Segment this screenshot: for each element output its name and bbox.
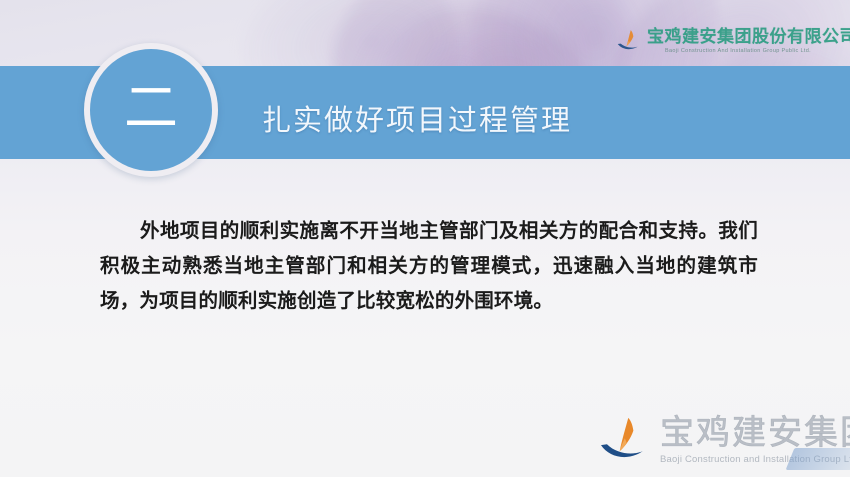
- slide-body-text: 外地项目的顺利实施离不开当地主管部门及相关方的配合和支持。我们积极主动熟悉当地主…: [100, 214, 758, 319]
- sail-boat-logo-icon: [598, 417, 650, 463]
- sail-boat-logo-icon: [616, 28, 642, 54]
- header-company-name-cn: 宝鸡建安集团股份有限公司: [647, 28, 850, 45]
- header-company-logo: 宝鸡建安集团股份有限公司 Baoji Construction And Inst…: [616, 28, 850, 55]
- header-logo-text: 宝鸡建安集团股份有限公司 Baoji Construction And Inst…: [647, 28, 850, 55]
- section-title: 扎实做好项目过程管理: [262, 97, 572, 139]
- footer-company-logo: 宝鸡建安集团 Baoji Construction and Installati…: [598, 416, 850, 465]
- header-company-name-en: Baoji Construction And Installation Grou…: [665, 49, 850, 55]
- section-number-badge: 二: [84, 43, 218, 177]
- presentation-slide: 宝鸡建安集团股份有限公司 Baoji Construction And Inst…: [0, 0, 850, 477]
- section-number-label: 二: [124, 81, 178, 135]
- footer-company-name-cn: 宝鸡建安集团: [660, 416, 850, 450]
- logo-swoosh-decoration: [786, 448, 850, 470]
